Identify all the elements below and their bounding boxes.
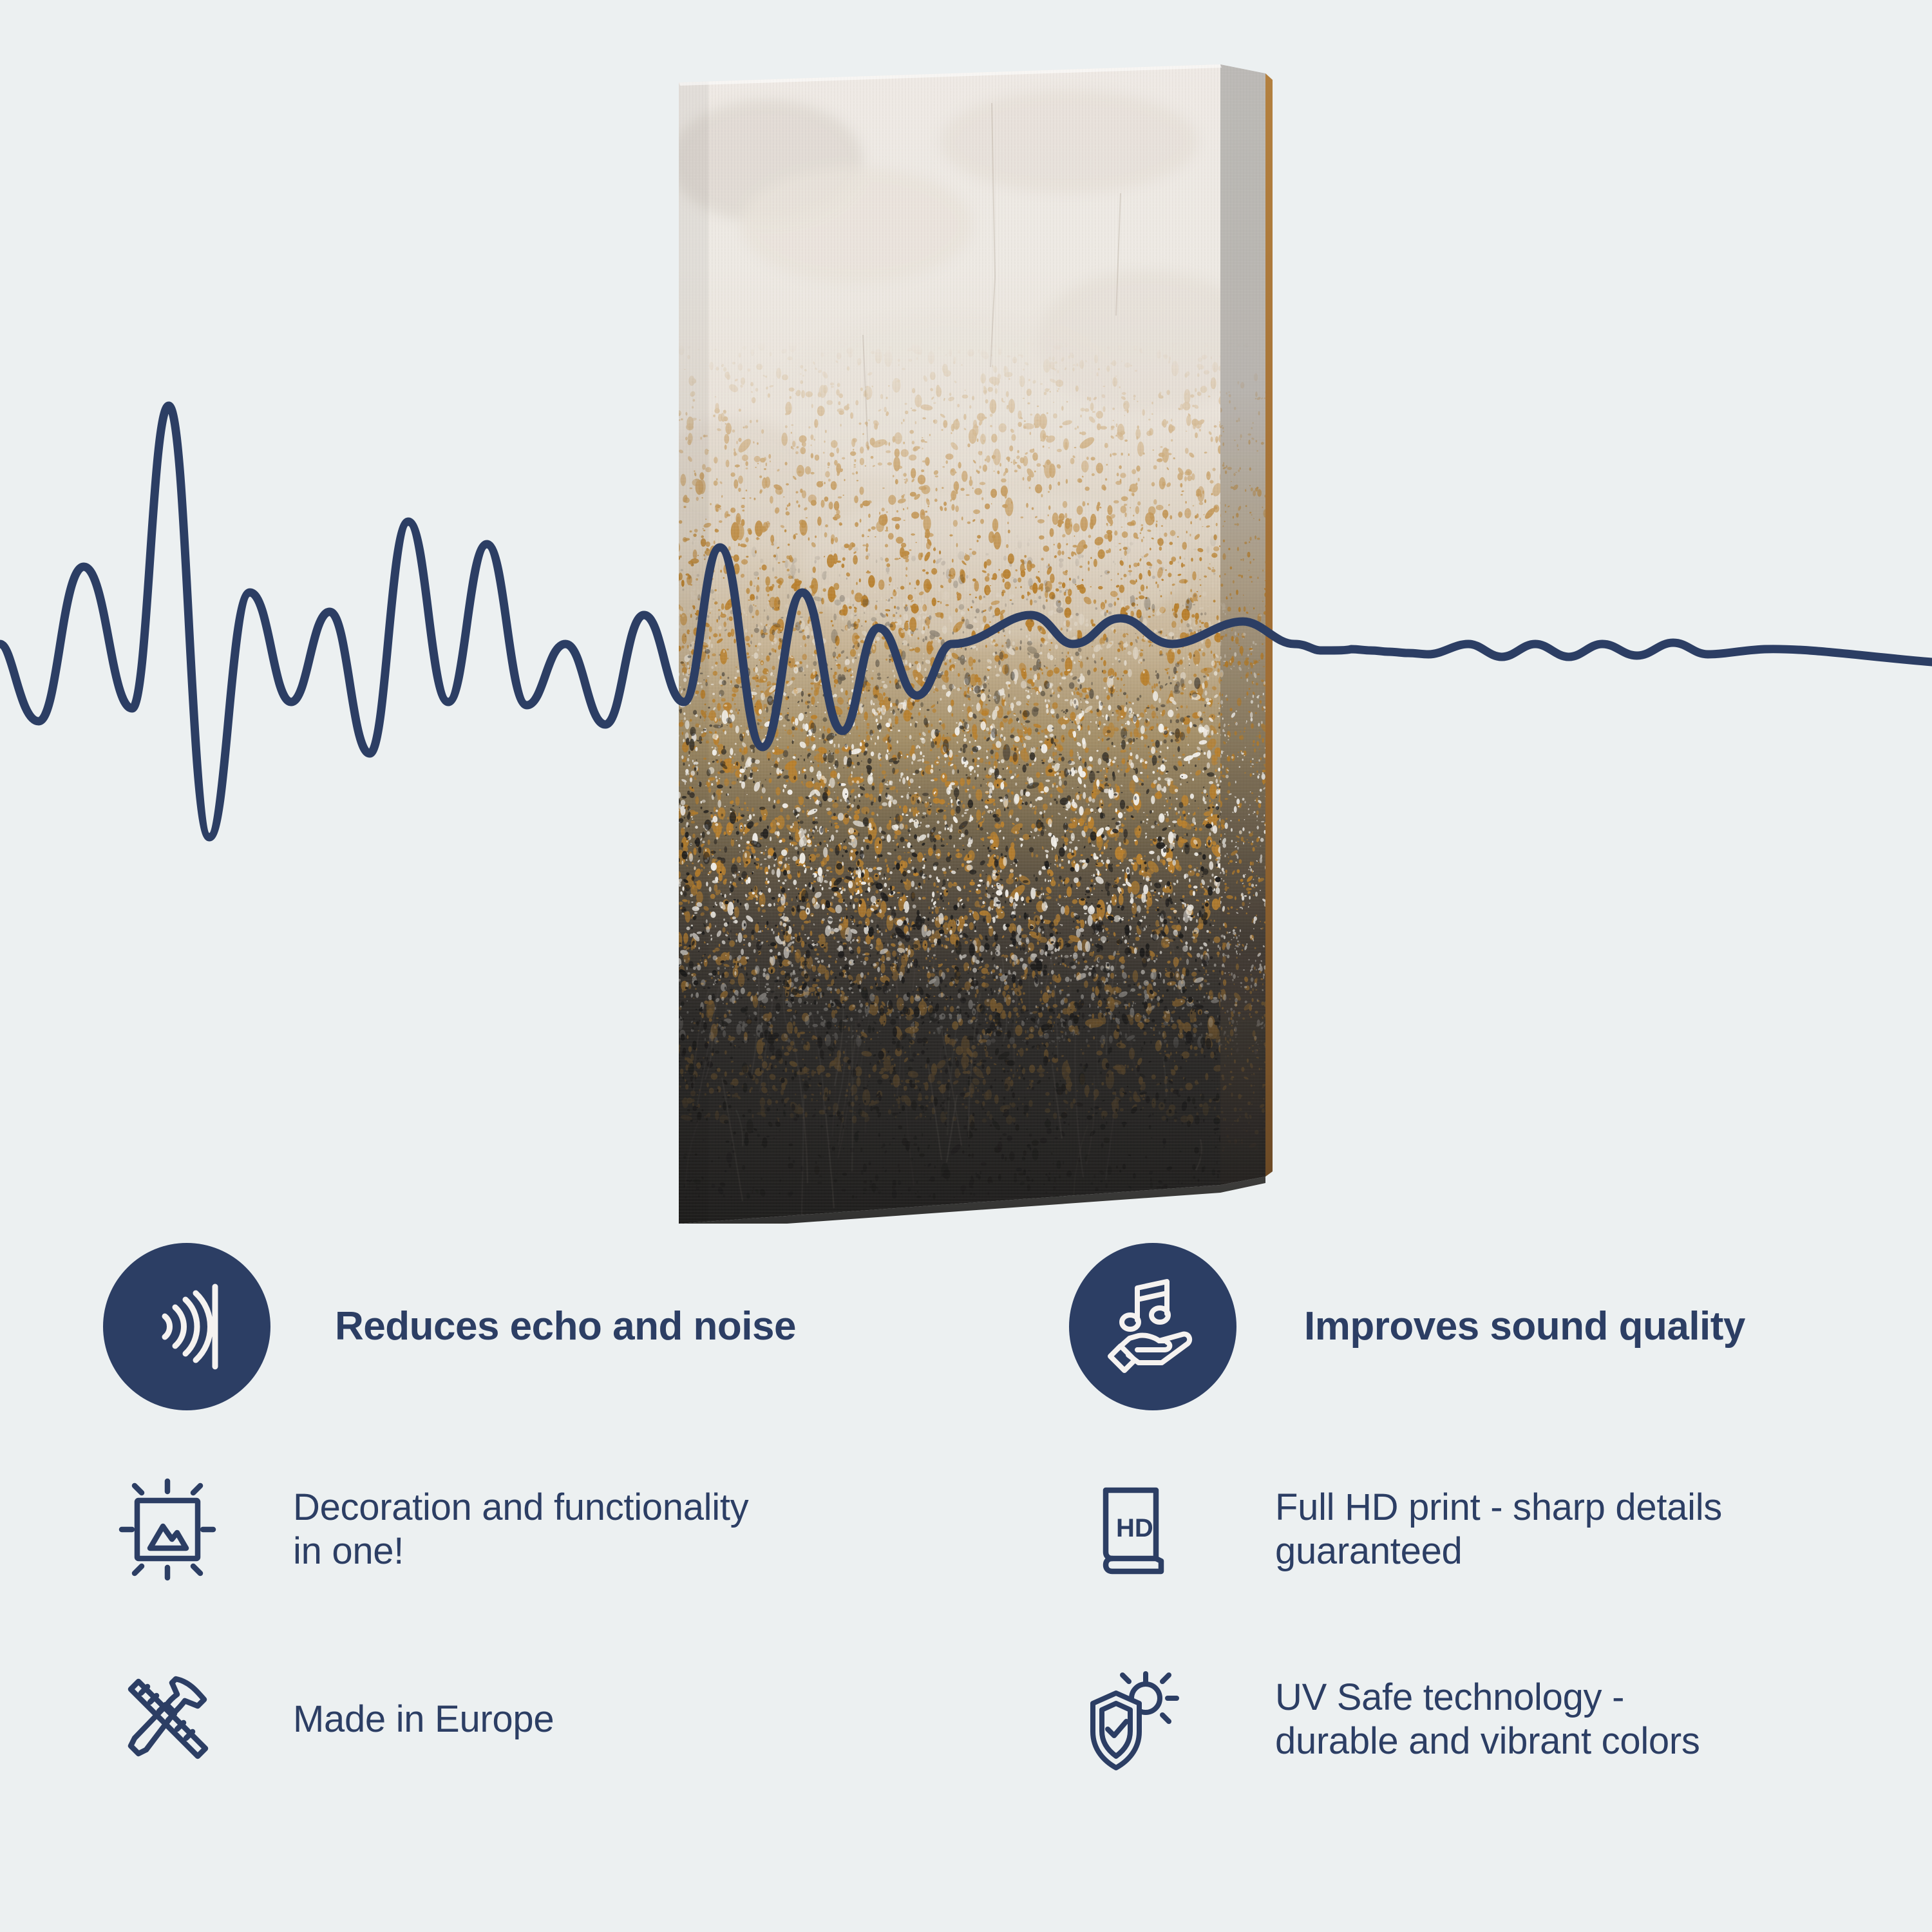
product-canvas-image (670, 64, 1288, 1224)
feature-label: Full HD print - sharp details guaranteed (1275, 1486, 1722, 1574)
feature-icon-wrap (1069, 1655, 1198, 1784)
feature-label: Reduces echo and noise (335, 1303, 796, 1350)
feature-badge (1069, 1243, 1236, 1410)
canvas-face (670, 64, 1288, 1224)
shield-check-sun-icon (1079, 1665, 1188, 1774)
feature-reduces-echo[interactable]: Reduces echo and noise (103, 1243, 796, 1410)
infographic-stage: Reduces echo and noise (0, 0, 1932, 1932)
stretcher-bar (1265, 73, 1273, 1177)
feature-label: Improves sound quality (1304, 1303, 1745, 1350)
feature-label: Made in Europe (293, 1698, 554, 1741)
canvas-side-edge (1216, 64, 1269, 1224)
feature-uv-safe[interactable]: UV Safe technology - durable and vibrant… (1069, 1655, 1700, 1784)
ruler-hammer-icon (113, 1665, 222, 1774)
feature-label: UV Safe technology - durable and vibrant… (1275, 1676, 1700, 1764)
feature-made-in-europe[interactable]: Made in Europe (103, 1655, 554, 1784)
feature-decoration-functionality[interactable]: Decoration and functionality in one! (103, 1465, 748, 1594)
feature-list: Reduces echo and noise (0, 1243, 1932, 1932)
shining-picture-frame-icon (113, 1475, 222, 1584)
feature-badge (103, 1243, 270, 1410)
feature-icon-wrap: HD (1069, 1465, 1198, 1594)
feature-icon-wrap (103, 1465, 232, 1594)
hd-label: HD (1116, 1514, 1153, 1542)
sound-waves-wall-icon (135, 1275, 238, 1378)
feature-icon-wrap (103, 1655, 232, 1784)
hd-print-page-icon: HD (1079, 1475, 1188, 1584)
feature-label: Decoration and functionality in one! (293, 1486, 748, 1574)
feature-full-hd-print[interactable]: HD Full HD print - sharp details guarant… (1069, 1465, 1722, 1594)
hand-music-note-icon (1100, 1274, 1206, 1380)
feature-improves-sound[interactable]: Improves sound quality (1069, 1243, 1745, 1410)
